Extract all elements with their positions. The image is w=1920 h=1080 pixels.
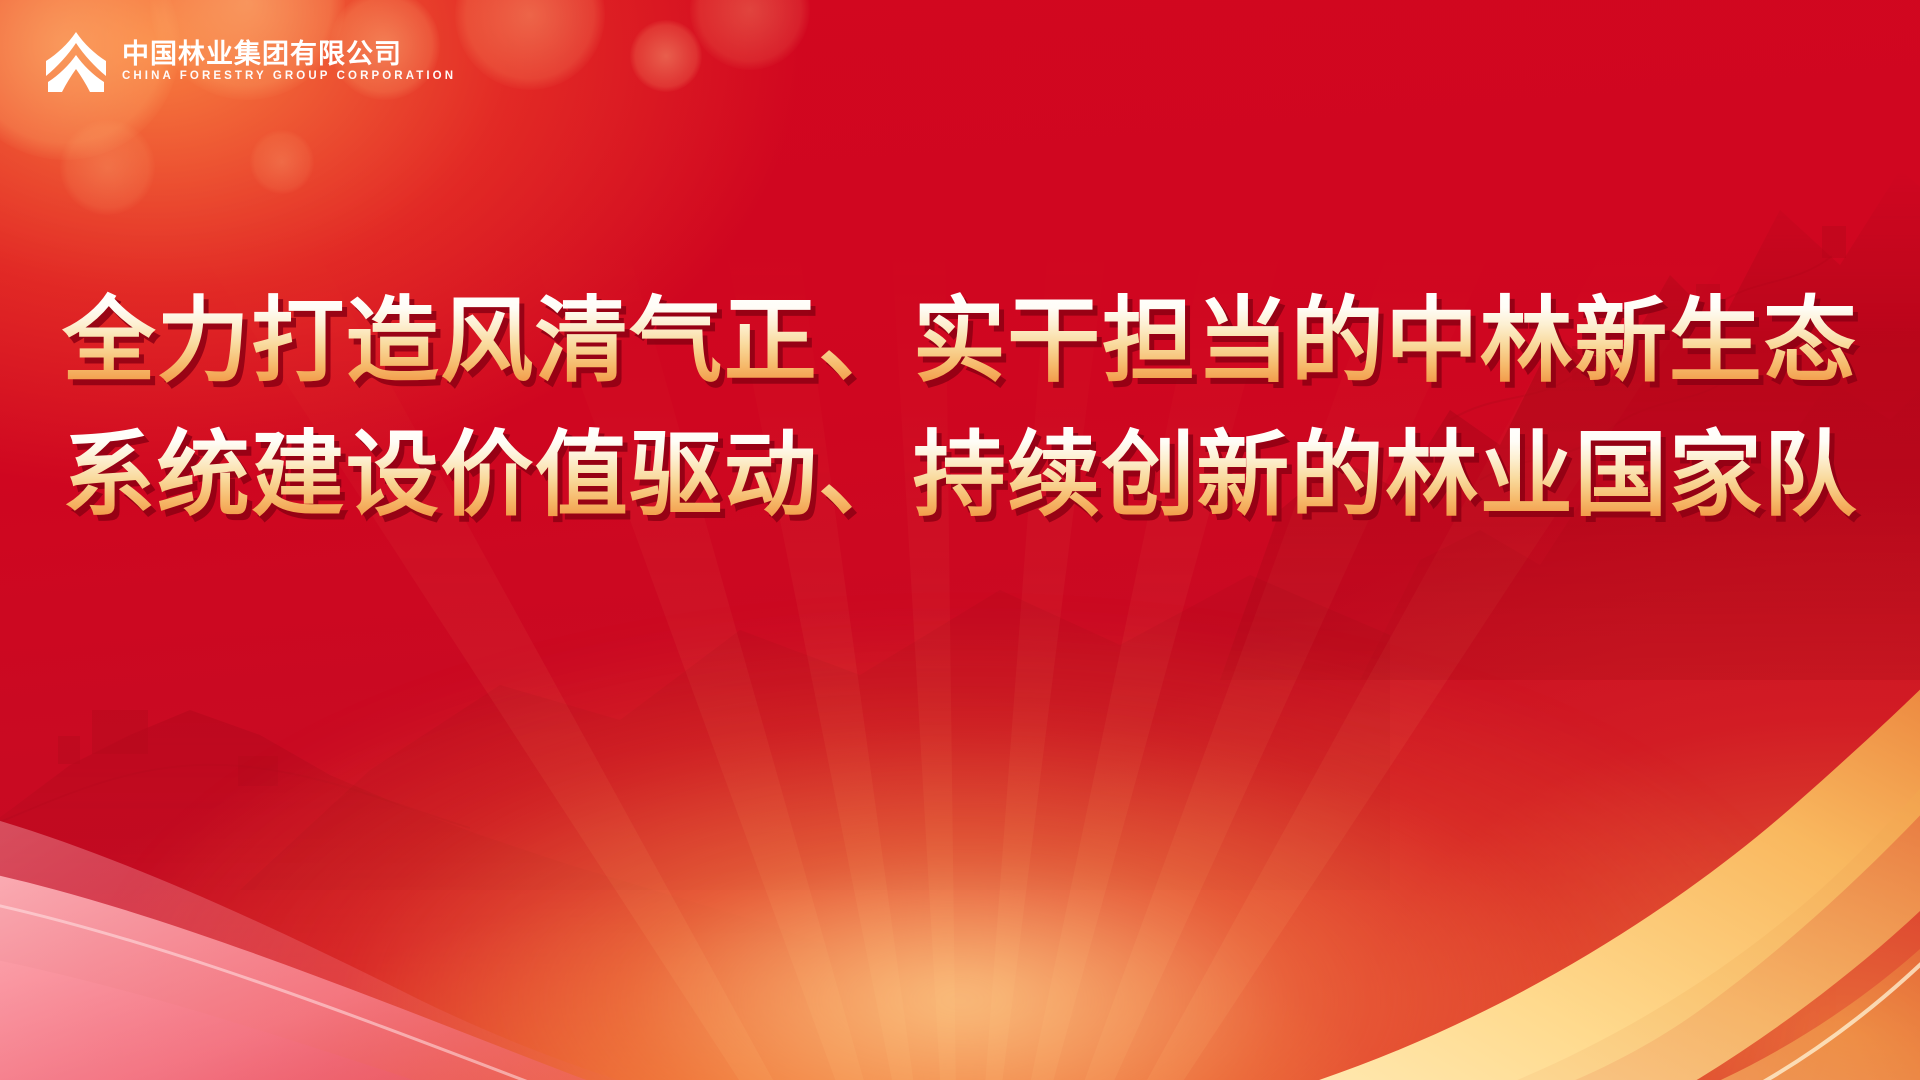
headline-line-2: 系统建设价值驱动、持续创新的林业国家队 系统建设价值驱动、持续创新的林业国家队 <box>62 422 1858 530</box>
headline-line-1: 全力打造风清气正、实干担当的中林新生态 全力打造风清气正、实干担当的中林新生态 <box>62 288 1858 396</box>
headline-line-2-text: 系统建设价值驱动、持续创新的林业国家队 <box>62 423 1858 527</box>
headline-line-1-text: 全力打造风清气正、实干担当的中林新生态 <box>62 289 1858 393</box>
company-name-en: CHINA FORESTRY GROUP CORPORATION <box>122 71 456 83</box>
company-name-cn: 中国林业集团有限公司 <box>122 41 456 68</box>
logo-wordmark: 中国林业集团有限公司 CHINA FORESTRY GROUP CORPORAT… <box>122 39 456 83</box>
banner-canvas: 中国林业集团有限公司 CHINA FORESTRY GROUP CORPORAT… <box>0 0 1920 1080</box>
company-logo: 中国林业集团有限公司 CHINA FORESTRY GROUP CORPORAT… <box>44 30 456 92</box>
mountain-chevron-logo-icon <box>44 30 108 92</box>
headline-block: 全力打造风清气正、实干担当的中林新生态 全力打造风清气正、实干担当的中林新生态 … <box>0 288 1920 530</box>
great-wall-left-texture-icon <box>0 560 840 980</box>
bottom-glow <box>110 620 1810 1080</box>
gold-swoosh-ribbon-icon <box>930 680 1920 1080</box>
background-decoration-layer <box>0 0 1920 1080</box>
silk-ribbon-wave-icon <box>0 740 1120 1080</box>
